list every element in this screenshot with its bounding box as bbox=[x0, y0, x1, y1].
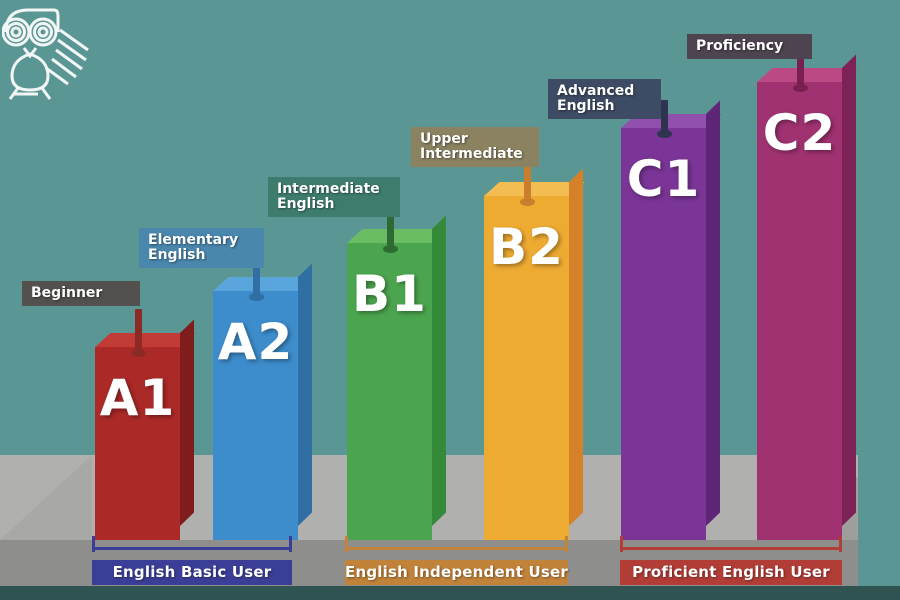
group-label-english-independent-user: English Independent User bbox=[345, 560, 568, 585]
bar-side-face bbox=[180, 319, 194, 526]
bar-a2: A2 bbox=[213, 291, 298, 540]
bracket-span bbox=[620, 547, 842, 550]
chart-canvas: A1BeginnerA2Elementary EnglishB1Intermed… bbox=[0, 0, 900, 600]
bar-side-face bbox=[432, 215, 446, 526]
flag-pole-base-c1 bbox=[657, 130, 672, 138]
bar-front-face bbox=[95, 347, 180, 540]
flag-sign-a2: Elementary English bbox=[139, 228, 264, 268]
bar-c2: C2 bbox=[757, 82, 842, 540]
group-bracket-english-independent-user bbox=[345, 536, 568, 552]
bar-front-face bbox=[213, 291, 298, 540]
bracket-span bbox=[92, 547, 292, 550]
bar-front-face bbox=[484, 196, 569, 540]
flag-sign-b2: Upper Intermediate bbox=[411, 127, 539, 167]
bracket-cap-left bbox=[92, 536, 95, 552]
flag-pole-base-a2 bbox=[249, 293, 264, 301]
bracket-cap-right bbox=[839, 536, 842, 552]
bracket-cap-left bbox=[620, 536, 623, 552]
baseline-strip bbox=[0, 586, 900, 600]
bracket-cap-right bbox=[289, 536, 292, 552]
bar-side-face bbox=[842, 54, 856, 526]
bracket-span bbox=[345, 547, 568, 550]
group-bracket-english-basic-user bbox=[92, 536, 292, 552]
bar-b2: B2 bbox=[484, 196, 569, 540]
bar-side-face bbox=[298, 263, 312, 526]
group-label-proficient-english-user: Proficient English User bbox=[620, 560, 842, 585]
bracket-cap-left bbox=[345, 536, 348, 552]
flag-pole-base-a1 bbox=[131, 349, 146, 357]
flag-sign-b1: Intermediate English bbox=[268, 177, 400, 217]
group-bracket-proficient-english-user bbox=[620, 536, 842, 552]
bar-side-face bbox=[706, 100, 720, 526]
group-label-english-basic-user: English Basic User bbox=[92, 560, 292, 585]
flag-pole-c1 bbox=[661, 100, 668, 134]
bar-a1: A1 bbox=[95, 347, 180, 540]
flag-sign-a1: Beginner bbox=[22, 281, 140, 306]
owl-logo bbox=[2, 2, 94, 100]
bar-b1: B1 bbox=[347, 243, 432, 540]
bar-side-face bbox=[569, 168, 583, 526]
bar-front-face bbox=[347, 243, 432, 540]
bracket-cap-right bbox=[565, 536, 568, 552]
flag-pole-base-b2 bbox=[520, 198, 535, 206]
flag-sign-c2: Proficiency bbox=[687, 34, 812, 59]
bar-front-face bbox=[757, 82, 842, 540]
flag-sign-c1: Advanced English bbox=[548, 79, 661, 119]
flag-pole-a1 bbox=[135, 309, 142, 353]
flag-pole-base-b1 bbox=[383, 245, 398, 253]
bar-front-face bbox=[621, 128, 706, 540]
flag-pole-base-c2 bbox=[793, 84, 808, 92]
bar-c1: C1 bbox=[621, 128, 706, 540]
